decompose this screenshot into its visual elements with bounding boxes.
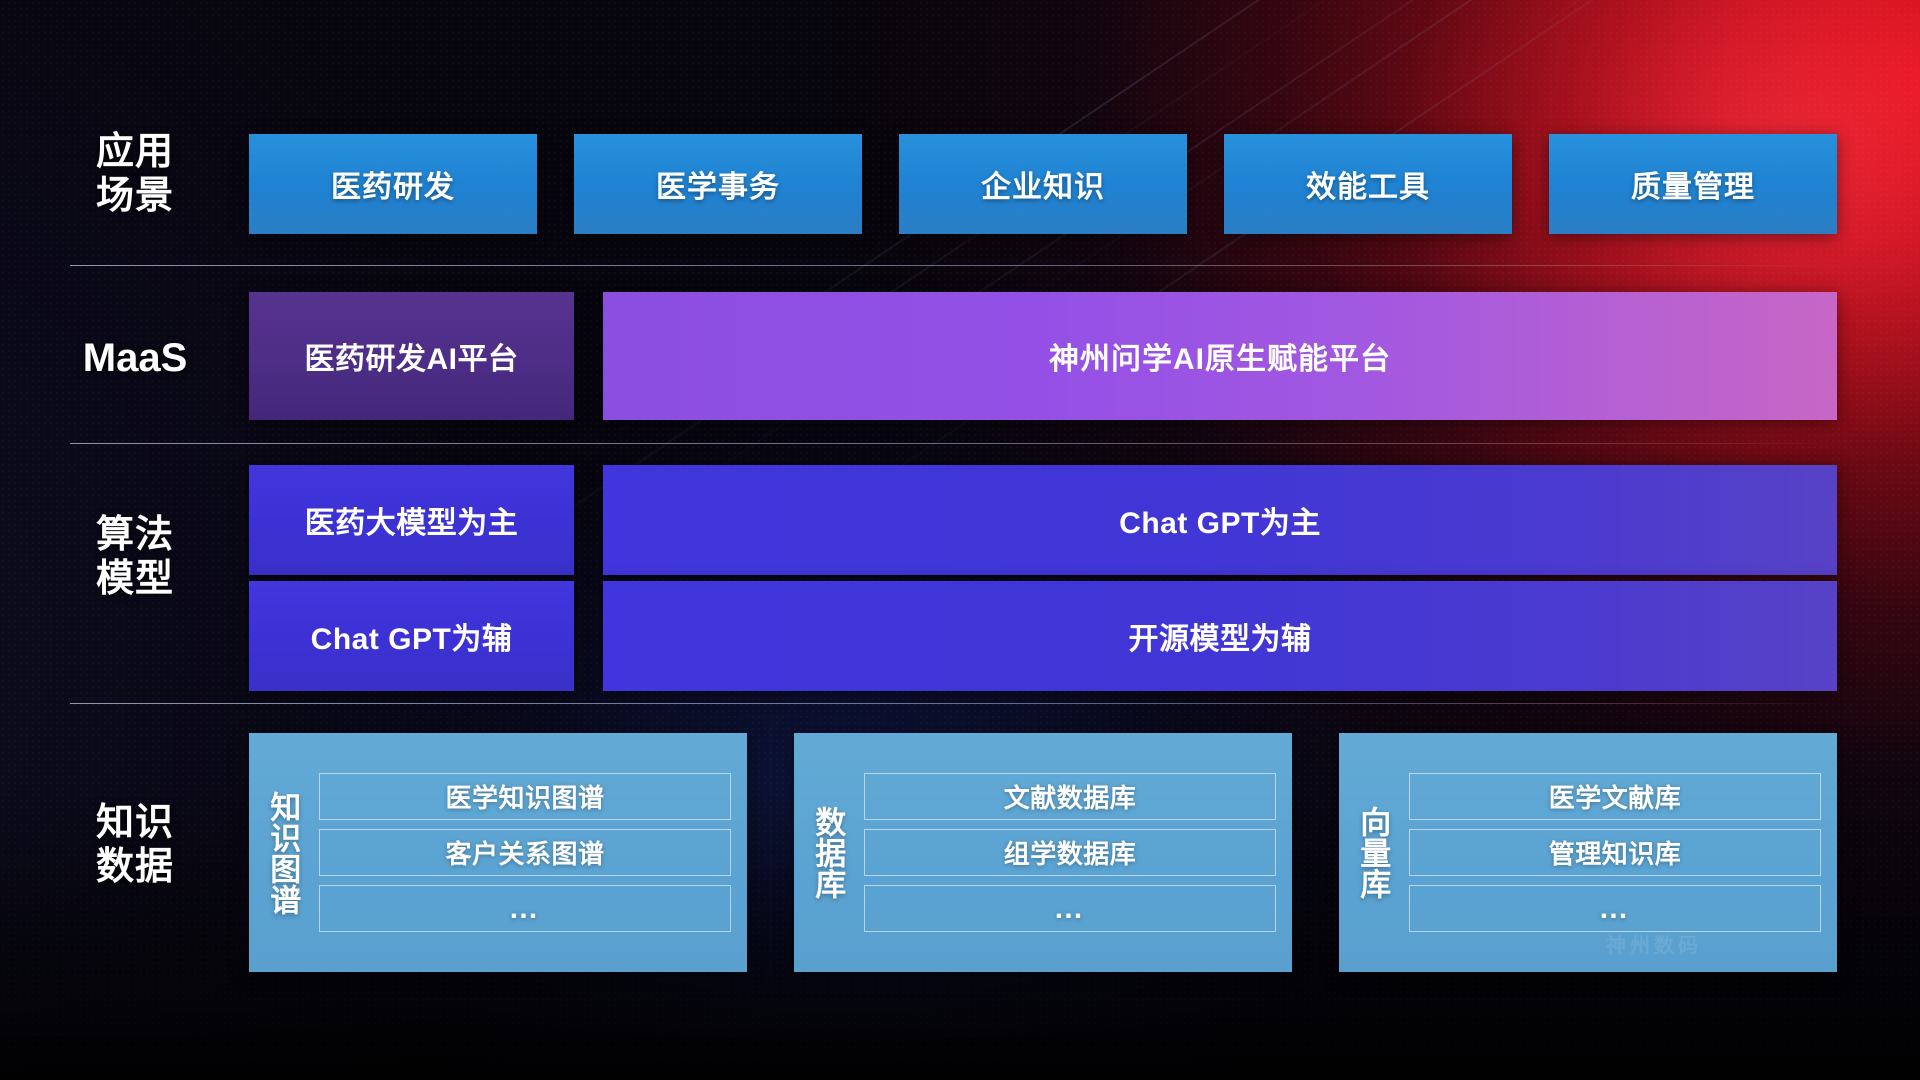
app-card-medical-affairs-label: 医学事务 (656, 162, 780, 206)
knowledge-item-customer-graph[interactable]: 客户关系图谱 (319, 829, 731, 876)
algo-card-opensource-secondary-label: 开源模型为辅 (1129, 614, 1312, 658)
knowledge-panel-graph-items: 医学知识图谱 客户关系图谱 … (315, 761, 747, 944)
maas-card-pharma-ai-platform[interactable]: 医药研发AI平台 (249, 292, 574, 420)
app-card-efficiency-tools[interactable]: 效能工具 (1224, 134, 1512, 234)
row-label-application-line2: 场景 (70, 174, 200, 218)
knowledge-item-medical-graph[interactable]: 医学知识图谱 (319, 773, 731, 820)
algo-card-chatgpt-primary[interactable]: Chat GPT为主 (603, 465, 1837, 575)
divider-algorithm-knowledge (70, 703, 1837, 704)
algo-card-chatgpt-secondary-label: Chat GPT为辅 (311, 614, 513, 658)
architecture-diagram: 应用 场景 医药研发 医学事务 企业知识 效能工具 质量管理 MaaS 医药研发… (0, 0, 1920, 1080)
maas-card-shenzhou-wenxue-platform[interactable]: 神州问学AI原生赋能平台 (603, 292, 1837, 420)
app-card-pharma-rd[interactable]: 医药研发 (249, 134, 537, 234)
row-label-knowledge-line2: 数据 (70, 845, 200, 889)
row-label-application: 应用 场景 (70, 130, 200, 218)
knowledge-item-graph-more[interactable]: … (319, 885, 731, 932)
row-label-maas-line1: MaaS (70, 335, 200, 381)
knowledge-panel-graph[interactable]: 知识图谱 医学知识图谱 客户关系图谱 … (249, 733, 747, 972)
maas-card-shenzhou-wenxue-platform-label: 神州问学AI原生赋能平台 (1049, 334, 1391, 378)
knowledge-panel-graph-vertical-label: 知识图谱 (249, 791, 315, 915)
divider-maas-algorithm (70, 443, 1837, 444)
knowledge-panel-database-items: 文献数据库 组学数据库 … (860, 761, 1292, 944)
knowledge-panel-vector-items: 医学文献库 管理知识库 … (1405, 761, 1837, 944)
algo-card-pharma-llm-primary-label: 医药大模型为主 (305, 498, 519, 542)
row-label-knowledge: 知识 数据 (70, 801, 200, 889)
watermark: 神州数码 (1606, 929, 1702, 958)
row-label-algorithm-line1: 算法 (70, 513, 200, 557)
knowledge-item-vector-more[interactable]: … (1409, 885, 1821, 932)
app-card-efficiency-tools-label: 效能工具 (1306, 162, 1430, 206)
knowledge-panel-database-vertical-label: 数据库 (794, 806, 860, 899)
app-card-enterprise-knowledge[interactable]: 企业知识 (899, 134, 1187, 234)
knowledge-item-omics-db[interactable]: 组学数据库 (864, 829, 1276, 876)
divider-application-maas (70, 265, 1837, 266)
row-label-maas: MaaS (70, 335, 200, 381)
maas-card-pharma-ai-platform-label: 医药研发AI平台 (305, 334, 519, 378)
knowledge-item-literature-db[interactable]: 文献数据库 (864, 773, 1276, 820)
app-card-quality-management-label: 质量管理 (1631, 162, 1755, 206)
knowledge-panel-vector[interactable]: 向量库 医学文献库 管理知识库 … (1339, 733, 1837, 972)
knowledge-item-medical-literature[interactable]: 医学文献库 (1409, 773, 1821, 820)
algo-card-opensource-secondary[interactable]: 开源模型为辅 (603, 581, 1837, 691)
knowledge-panel-database[interactable]: 数据库 文献数据库 组学数据库 … (794, 733, 1292, 972)
app-card-quality-management[interactable]: 质量管理 (1549, 134, 1837, 234)
row-label-application-line1: 应用 (70, 130, 200, 174)
algo-card-chatgpt-secondary[interactable]: Chat GPT为辅 (249, 581, 574, 691)
row-label-knowledge-line1: 知识 (70, 801, 200, 845)
app-card-enterprise-knowledge-label: 企业知识 (981, 162, 1105, 206)
knowledge-item-management-knowledge[interactable]: 管理知识库 (1409, 829, 1821, 876)
algo-card-pharma-llm-primary[interactable]: 医药大模型为主 (249, 465, 574, 575)
knowledge-item-database-more[interactable]: … (864, 885, 1276, 932)
knowledge-panel-vector-vertical-label: 向量库 (1339, 806, 1405, 899)
app-card-medical-affairs[interactable]: 医学事务 (574, 134, 862, 234)
row-label-algorithm-line2: 模型 (70, 557, 200, 601)
algo-card-chatgpt-primary-label: Chat GPT为主 (1119, 498, 1321, 542)
app-card-pharma-rd-label: 医药研发 (331, 162, 455, 206)
row-label-algorithm: 算法 模型 (70, 513, 200, 601)
